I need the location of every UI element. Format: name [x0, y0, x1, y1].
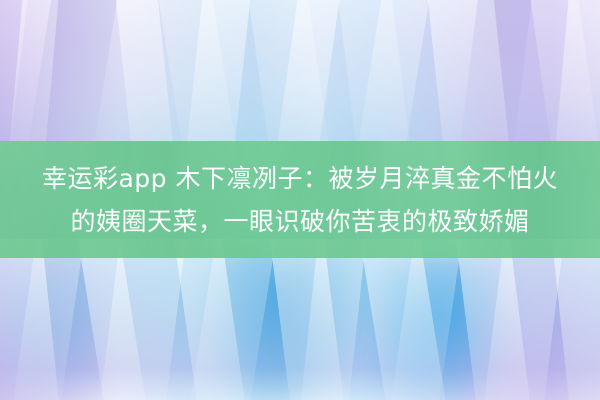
light-shaft: [11, 239, 84, 400]
light-shaft: [174, 239, 247, 400]
light-shaft: [482, 239, 564, 400]
caption-line-1: 幸运彩app 木下凛冽子：被岁月淬真金不怕火: [42, 157, 558, 200]
caption-line-2: 的姨圈天菜，一眼识破你苦衷的极致娇媚: [70, 200, 529, 243]
light-shaft: [98, 239, 186, 400]
light-shaft: [360, 239, 448, 400]
light-shaft: [78, 239, 148, 400]
green-caption-banner: 幸运彩app 木下凛冽子：被岁月淬真金不怕火 的姨圈天菜，一眼识破你苦衷的极致娇…: [0, 141, 600, 258]
light-shaft: [299, 239, 366, 400]
light-shaft: [552, 239, 600, 400]
light-shaft: [456, 239, 532, 400]
light-shaft: [270, 239, 346, 400]
light-shafts-lower: [0, 256, 600, 400]
light-shaft: [188, 239, 276, 400]
light-shaft: [389, 239, 462, 400]
light-shafts-upper: [0, 0, 600, 150]
image-canvas: 幸运彩app 木下凛冽子：被岁月淬真金不怕火 的姨圈天菜，一眼识破你苦衷的极致娇…: [0, 0, 600, 400]
light-shaft: [0, 239, 61, 400]
